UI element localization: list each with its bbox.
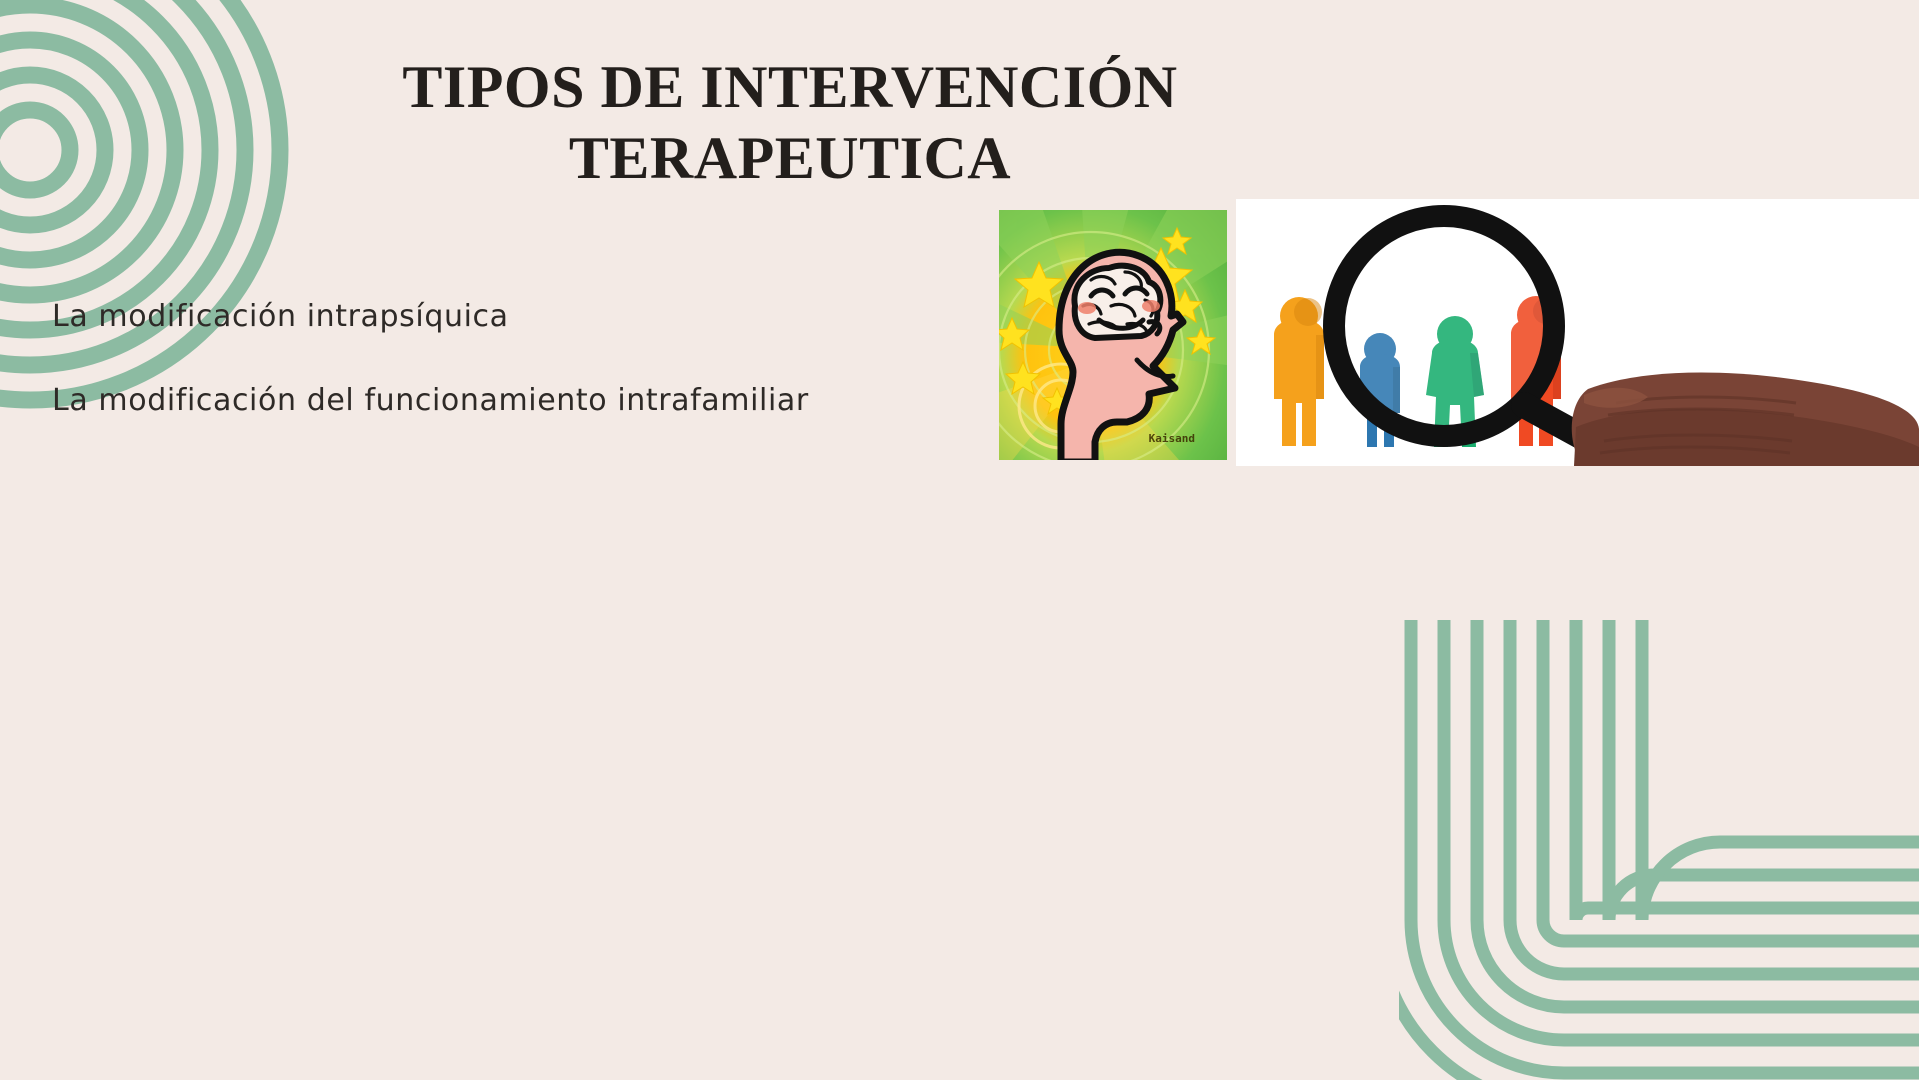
body-bullet-1: La modificación intrapsíquica bbox=[52, 298, 932, 336]
concentric-arcs-bottom-right-decoration bbox=[1399, 620, 1919, 1080]
slide-canvas: TIPOS DE INTERVENCIÓN TERAPEUTICA La mod… bbox=[0, 0, 1919, 1080]
cartoon-head-with-brain-image: Kaisand bbox=[999, 210, 1227, 460]
body-text-block: La modificación intrapsíquica La modific… bbox=[52, 298, 932, 419]
title-line-2: TERAPEUTICA bbox=[300, 123, 1280, 194]
body-bullet-2: La modificación del funcionamiento intra… bbox=[52, 382, 932, 420]
page-title: TIPOS DE INTERVENCIÓN TERAPEUTICA bbox=[300, 52, 1280, 194]
magnifying-glass-over-family-image bbox=[1236, 199, 1919, 466]
title-line-1: TIPOS DE INTERVENCIÓN bbox=[300, 52, 1280, 123]
svg-text:Kaisand: Kaisand bbox=[1149, 432, 1195, 445]
